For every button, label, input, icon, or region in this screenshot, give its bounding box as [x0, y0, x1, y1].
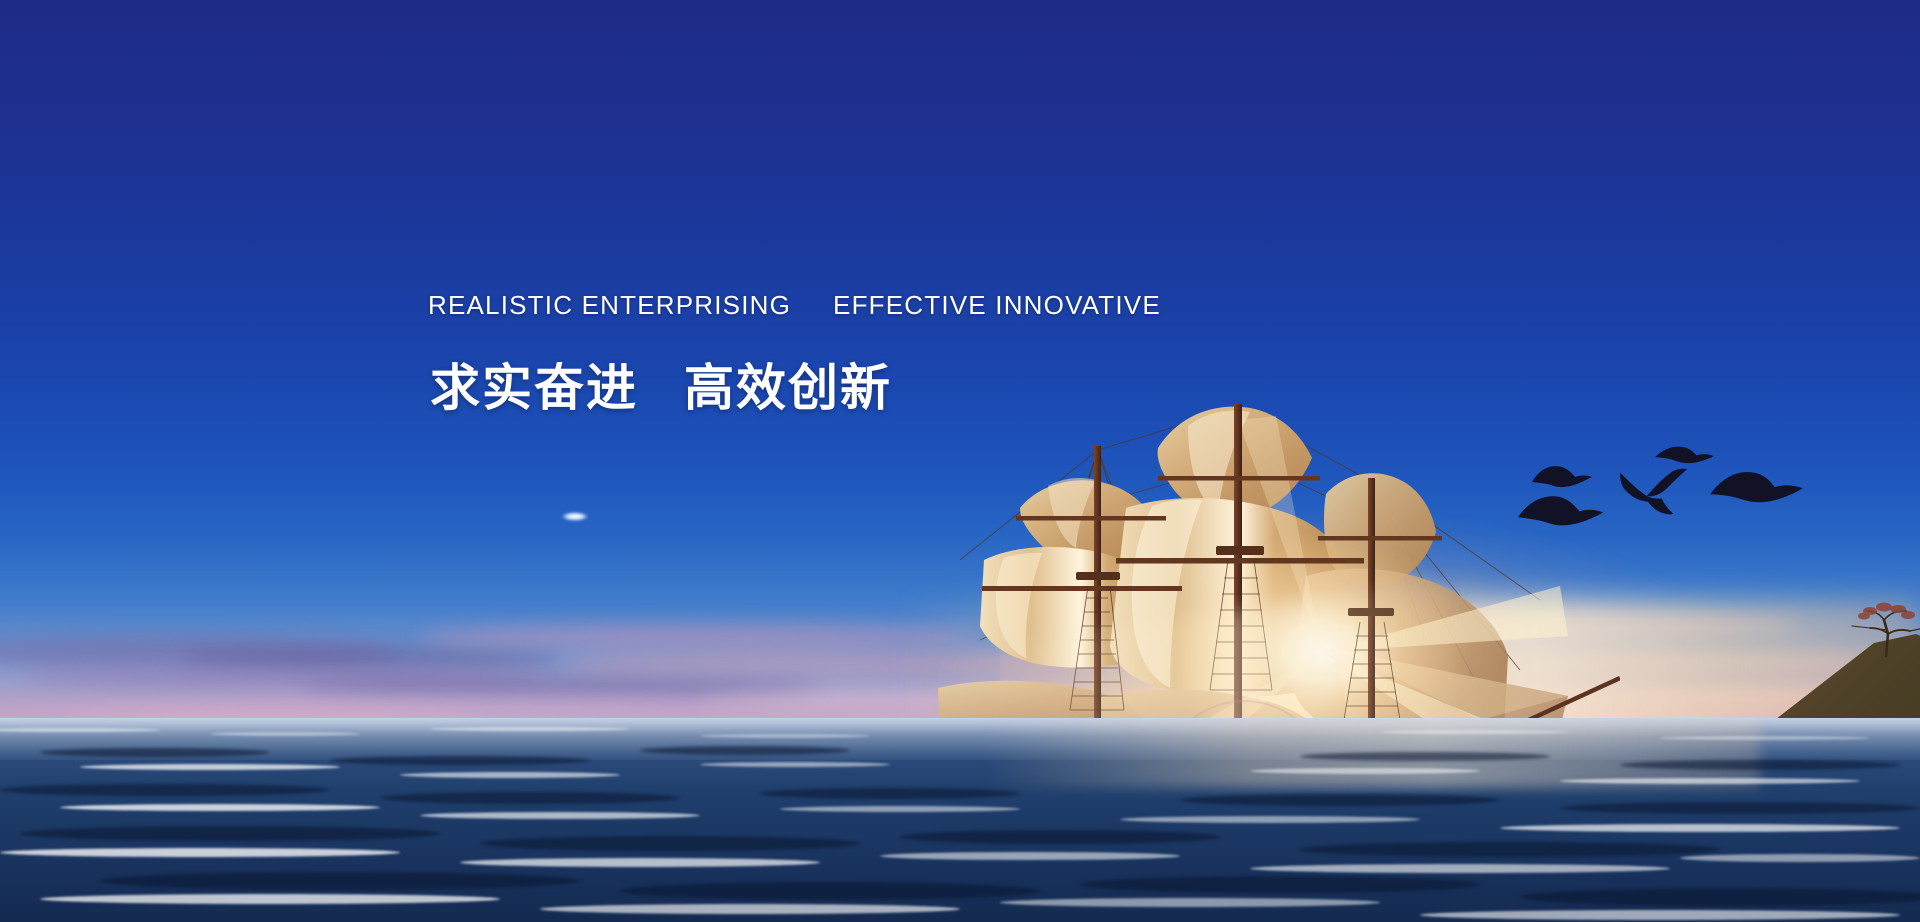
- tagline-chinese-left: 求实奋进: [430, 360, 638, 416]
- tagline-chinese: 求实奋进高效创新: [430, 348, 892, 420]
- tagline-block: REALISTIC ENTERPRISINGEFFECTIVE INNOVATI…: [0, 0, 1920, 922]
- tagline-english-left: REALISTIC ENTERPRISING: [428, 290, 791, 320]
- hero-banner: REALISTIC ENTERPRISINGEFFECTIVE INNOVATI…: [0, 0, 1920, 922]
- tagline-english: REALISTIC ENTERPRISINGEFFECTIVE INNOVATI…: [428, 290, 1161, 321]
- tagline-chinese-right: 高效创新: [684, 360, 892, 416]
- tagline-english-right: EFFECTIVE INNOVATIVE: [833, 290, 1161, 320]
